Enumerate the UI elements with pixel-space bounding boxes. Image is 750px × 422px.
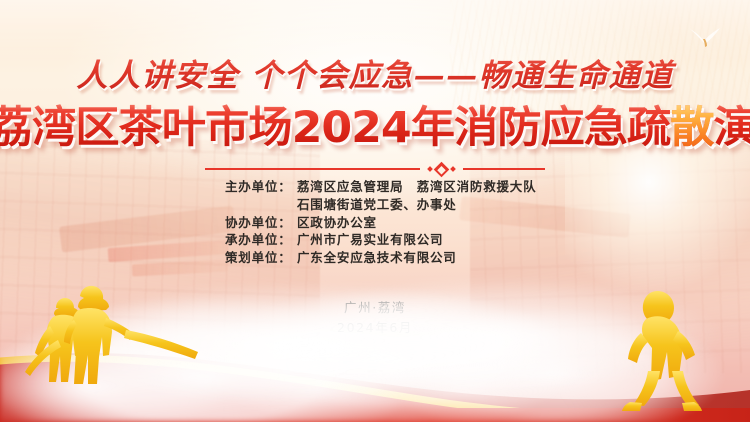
diamond-small-right: [450, 166, 456, 172]
credit-value: 石围塘街道党工委、办事处: [297, 197, 457, 212]
credit-label: 承办单位：: [225, 231, 297, 249]
credit-inner: 石围塘街道党工委、办事处: [225, 196, 525, 214]
divider-line-right: [463, 168, 545, 170]
divider-line-left: [205, 168, 420, 170]
credit-value: 荔湾区应急管理局 荔湾区消防救援大队: [297, 179, 536, 194]
firefighter-hose-silhouette: [22, 284, 212, 404]
title-segment-1: 荔湾区茶叶市场2024年消防应急疏: [0, 103, 670, 153]
credit-row: 石围塘街道党工委、办事处: [0, 196, 750, 214]
credit-inner: 主办单位：荔湾区应急管理局 荔湾区消防救援大队: [225, 178, 525, 196]
poster-title: 荔湾区茶叶市场2024年消防应急疏散演练: [0, 103, 750, 153]
diamond-small-left: [427, 166, 433, 172]
credit-row: 主办单位：荔湾区应急管理局 荔湾区消防救援大队: [0, 178, 750, 196]
credit-row: 策划单位：广东全安应急技术有限公司: [0, 249, 750, 267]
diamond-ornament-icon: [420, 164, 463, 175]
title-segment-2: 演练: [714, 103, 750, 153]
credit-inner: 承办单位：广州市广易实业有限公司: [225, 231, 525, 249]
credit-label: 主办单位：: [225, 178, 297, 196]
credit-value: 区政协办公室: [297, 215, 377, 230]
poster-canvas: 人人讲安全 个个会应急——畅通生命通道 荔湾区茶叶市场2024年消防应急疏散演练…: [0, 0, 750, 422]
credit-label: 策划单位：: [225, 249, 297, 267]
credit-inner: 策划单位：广东全安应急技术有限公司: [225, 249, 525, 267]
credit-row: 承办单位：广州市广易实业有限公司: [0, 231, 750, 249]
credit-value: 广东全安应急技术有限公司: [297, 250, 457, 265]
diamond-center: [434, 161, 450, 177]
poster-subtitle: 人人讲安全 个个会应急——畅通生命通道: [0, 50, 750, 95]
credit-value: 广州市广易实业有限公司: [297, 232, 443, 247]
credit-row: 协办单位：区政协办公室: [0, 214, 750, 232]
running-person-silhouette: [616, 289, 708, 414]
flying-bird-icon: [688, 26, 722, 52]
title-segment-accent: 散: [670, 103, 713, 153]
decorative-divider: [205, 163, 545, 175]
credit-inner: 协办单位：区政协办公室: [225, 214, 525, 232]
credits-block: 主办单位：荔湾区应急管理局 荔湾区消防救援大队 石围塘街道党工委、办事处 协办单…: [0, 178, 750, 267]
credit-label: 协办单位：: [225, 214, 297, 232]
